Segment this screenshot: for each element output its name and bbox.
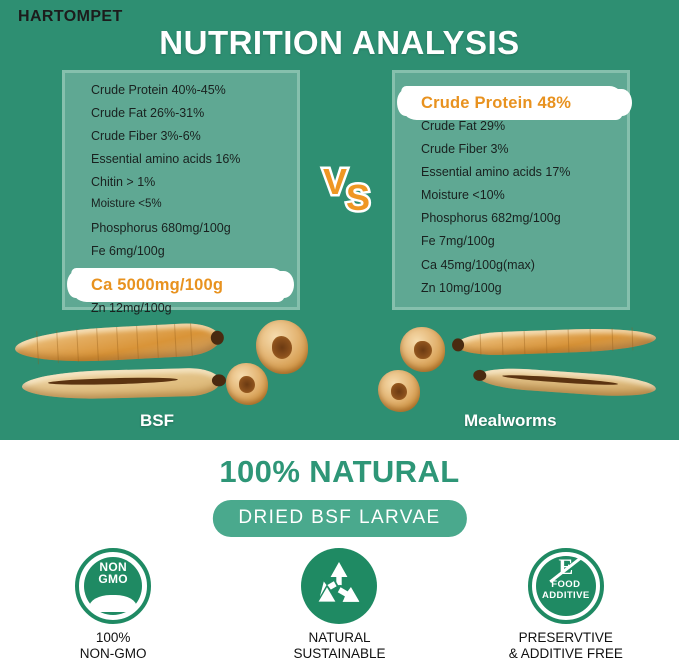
spec-row: Moisture <10% [421,189,621,202]
spec-row: Moisture <5% [91,199,291,211]
badge-row: NON GMO 100% NON-GMO [0,548,679,666]
non-gmo-icon: NON GMO [75,548,151,624]
recycle-arrows-glyph [309,556,369,616]
nutrition-analysis-section: HARTOMPET NUTRITION ANALYSIS Crude Prote… [0,0,679,440]
additive-icon-line2: ADDITIVE [528,591,604,602]
natural-claims-section: 100% NATURAL DRIED BSF LARVAE NON GMO 10… [0,440,679,666]
spec-row: Crude Protein 40%-45% [91,84,291,97]
recycle-icon [301,548,377,624]
spec-row-highlighted: Crude Protein 48% [421,94,615,112]
product-type-pill: DRIED BSF LARVAE [212,500,466,537]
mealworms-spec-list: Crude Protein 48% Crude Fat 29% Crude Fi… [395,73,627,307]
spec-row: Chitin > 1% [91,176,291,189]
badge-additive-free: E FOOD ADDITIVE PRESERVTIVE & ADDITIVE F… [466,548,666,662]
mealworm-chunk-small [378,370,420,412]
bsf-spec-list: Crude Protein 40%-45% Crude Fat 26%-31% … [65,73,297,307]
badge-caption: 100% NON-GMO [13,630,213,662]
bsf-larva-split [22,367,221,400]
badge-caption: PRESERVTIVE & ADDITIVE FREE [466,630,666,662]
spec-row: Zn 10mg/100g [421,282,621,295]
bsf-chunk-small [226,363,268,405]
mealworm-chunk-large [400,327,445,372]
vs-letter-v: V [323,161,347,203]
badge-caption: NATURAL SUSTAINABLE [239,630,439,662]
spec-row: Zn 12mg/100g [91,302,291,315]
spec-row: Essential amino acids 16% [91,153,291,166]
spec-row: Fe 7mg/100g [421,235,621,248]
mealworms-spec-panel: Crude Protein 48% Crude Fat 29% Crude Fi… [392,70,630,310]
mealworms-species-label: Mealworms [464,411,557,431]
mealworm-split [477,366,656,399]
badge-non-gmo: NON GMO 100% NON-GMO [13,548,213,662]
vs-letter-s: S [346,177,370,219]
natural-headline: 100% NATURAL [0,454,679,490]
spec-row: Crude Fiber 3%-6% [91,130,291,143]
spec-row: Fe 6mg/100g [91,245,291,258]
spec-row: Phosphorus 680mg/100g [91,222,291,235]
vs-badge: V S [322,163,380,225]
page-title: NUTRITION ANALYSIS [0,24,679,62]
bsf-chunk-large [256,320,308,374]
no-food-additive-icon: E FOOD ADDITIVE [528,548,604,624]
spec-row: Crude Fat 29% [421,120,621,133]
spec-row: Crude Fiber 3% [421,143,621,156]
product-infographic: HARTOMPET NUTRITION ANALYSIS Crude Prote… [0,0,679,666]
bsf-species-label: BSF [140,411,174,431]
spec-row-highlighted: Ca 5000mg/100g [91,276,285,294]
mealworm-whole [456,327,657,357]
spec-row: Essential amino acids 17% [421,166,621,179]
mealworms-highlight-row: Crude Protein 48% [401,86,621,116]
bsf-highlight-row: Ca 5000mg/100g [71,268,291,298]
badge-natural-sustainable: NATURAL SUSTAINABLE [239,548,439,662]
non-gmo-icon-line2: GMO [75,574,151,586]
additive-icon-line1: FOOD [528,580,604,591]
spec-row: Crude Fat 26%-31% [91,107,291,120]
bsf-spec-panel: Crude Protein 40%-45% Crude Fat 26%-31% … [62,70,300,310]
spec-row: Phosphorus 682mg/100g [421,212,621,225]
spec-row: Ca 45mg/100g(max) [421,259,621,272]
bsf-larva-whole [14,322,220,366]
